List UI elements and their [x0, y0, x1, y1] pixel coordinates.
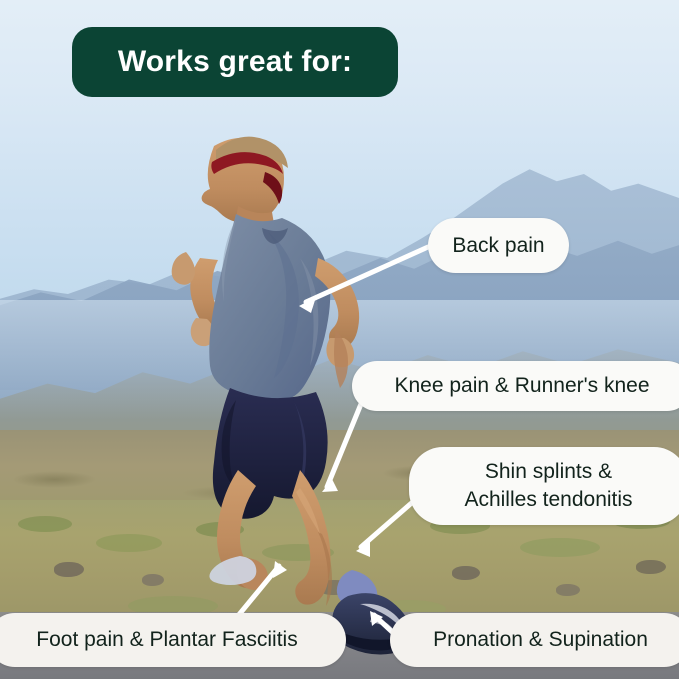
callout-pronation-supination: Pronation & Supination	[390, 613, 679, 667]
badge-label: Works great for:	[118, 45, 352, 79]
runner-figure	[0, 0, 679, 679]
promo-image: Works great for: Back pain Knee pain & R…	[0, 0, 679, 679]
callout-label-shin-splints-line1: Shin splints &	[485, 458, 612, 486]
callout-shin-splints: Shin splints & Achilles tendonitis	[409, 447, 679, 525]
callout-foot-pain: Foot pain & Plantar Fasciitis	[0, 613, 346, 667]
callout-back-pain: Back pain	[428, 218, 569, 273]
background-photo	[0, 0, 679, 679]
callout-label-knee-pain: Knee pain & Runner's knee	[394, 372, 649, 400]
callout-label-foot-pain: Foot pain & Plantar Fasciitis	[36, 626, 297, 654]
works-great-for-badge: Works great for:	[72, 27, 398, 97]
callout-knee-pain: Knee pain & Runner's knee	[352, 361, 679, 411]
callout-label-back-pain: Back pain	[452, 232, 544, 260]
callout-label-shin-splints-line2: Achilles tendonitis	[464, 486, 632, 514]
callout-label-pronation-supination: Pronation & Supination	[433, 626, 648, 654]
